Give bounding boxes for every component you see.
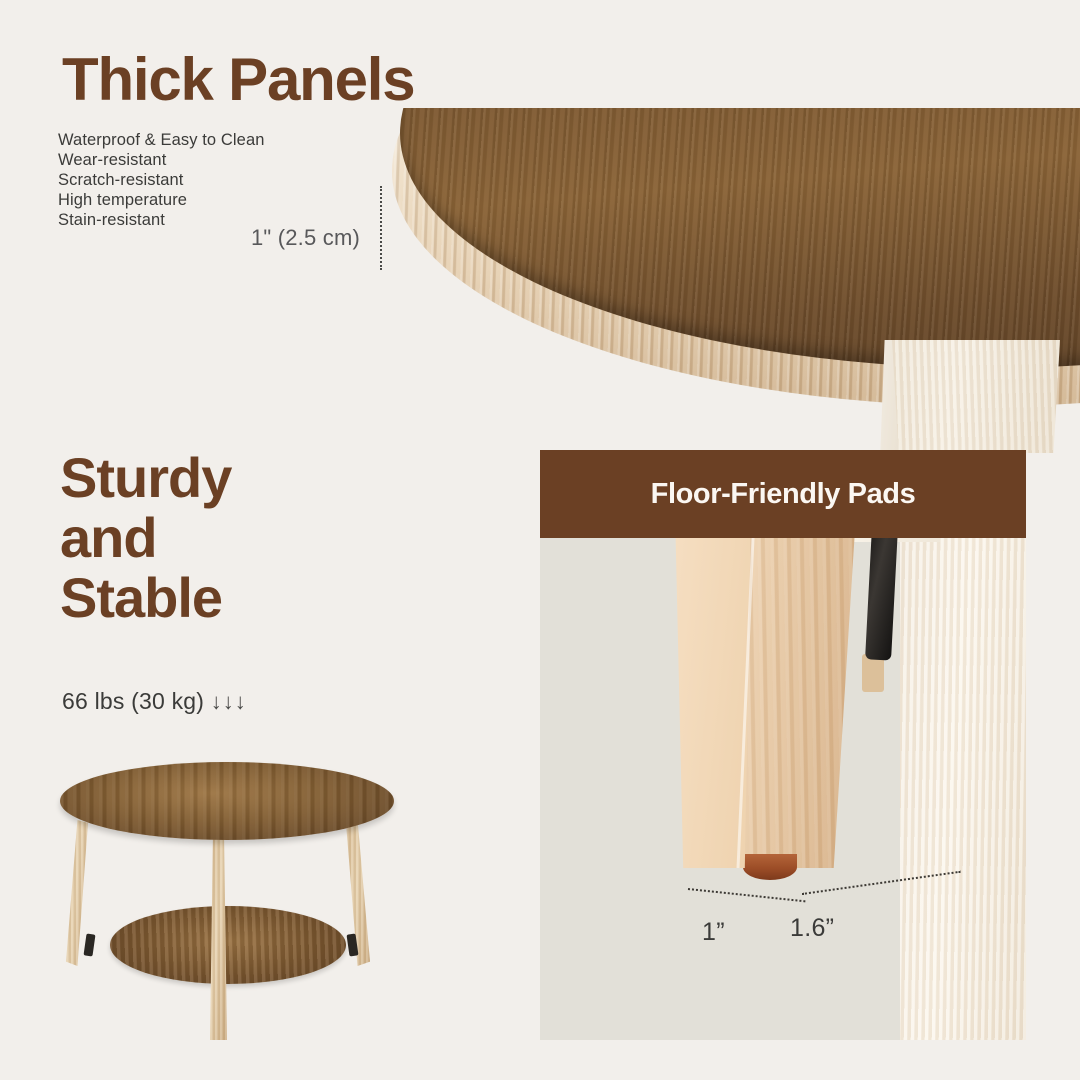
table-leg-center — [210, 828, 227, 1040]
thickness-measurement-label: 1" (2.5 cm) — [190, 225, 360, 251]
weight-capacity-row: 66 lbs (30 kg) ↓↓↓ — [62, 688, 247, 715]
feature-list: Waterproof & Easy to Clean Wear-resistan… — [58, 130, 265, 230]
table-leg-upper — [885, 340, 1060, 453]
floor-friendly-pad — [743, 854, 797, 880]
feature-item-2: Scratch-resistant — [58, 170, 265, 190]
pads-banner: Floor-Friendly Pads — [540, 450, 1026, 538]
infographic-canvas: Thick Panels Waterproof & Easy to Clean … — [0, 0, 1080, 1080]
tabletop-surface — [60, 762, 394, 840]
coffee-table-product-photo — [52, 758, 402, 1033]
pad-dimension-label-right: 1.6” — [790, 914, 834, 943]
shelf-bracket-left-icon — [84, 933, 96, 956]
pads-banner-title: Floor-Friendly Pads — [651, 478, 916, 511]
sturdy-line-3: Stable — [60, 568, 231, 628]
thickness-dotted-guide-line — [380, 186, 382, 270]
floor-friendly-pads-card: 1” 1.6” Floor-Friendly Pads — [540, 450, 1026, 1040]
lower-shelf-surface — [110, 906, 346, 984]
sturdy-line-1: Sturdy — [60, 448, 231, 508]
table-edge-photo — [390, 108, 1080, 453]
page-title-sturdy-stable: Sturdy and Stable — [60, 448, 231, 628]
feature-item-0: Waterproof & Easy to Clean — [58, 130, 265, 150]
page-title-thick-panels: Thick Panels — [62, 50, 414, 110]
pad-dimension-label-left: 1” — [702, 918, 725, 947]
down-arrow-icon: ↓↓↓ — [211, 689, 247, 714]
weight-capacity-value: 66 lbs (30 kg) — [62, 688, 204, 714]
feature-item-3: High temperature — [58, 190, 265, 210]
feature-item-1: Wear-resistant — [58, 150, 265, 170]
sturdy-line-2: and — [60, 508, 231, 568]
